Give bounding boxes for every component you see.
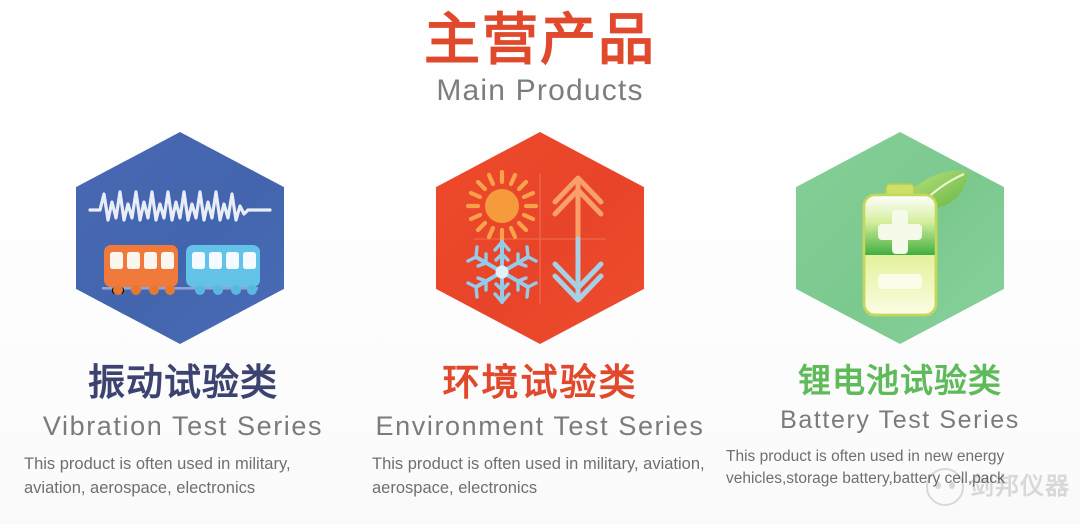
battery-name-cn: 锂电池试验类 — [726, 362, 1074, 400]
product-card-battery[interactable]: 锂电池试验类 Battery Test Series This product … — [720, 132, 1080, 524]
battery-description: This product is often used in new energy… — [726, 446, 1074, 490]
arrow-up-icon — [555, 178, 601, 239]
battery-icon-wrap — [720, 132, 1080, 360]
snowflake-icon — [468, 242, 536, 302]
minus-symbol — [878, 274, 922, 289]
environment-name-en: Environment Test Series — [372, 410, 708, 442]
page-header: 主营产品 Main Products — [0, 0, 1080, 107]
main-products-page: 主营产品 Main Products — [0, 0, 1080, 524]
vibration-text-block: 振动试验类 Vibration Test Series This product… — [0, 360, 360, 500]
environment-name-cn: 环境试验类 — [372, 362, 708, 405]
product-card-environment[interactable]: 环境试验类 Environment Test Series This produ… — [360, 132, 720, 524]
product-columns: 振动试验类 Vibration Test Series This product… — [0, 132, 1080, 524]
battery-leaf-icon — [796, 132, 1004, 344]
product-card-vibration[interactable]: 振动试验类 Vibration Test Series This product… — [0, 132, 360, 524]
arrow-down-icon — [555, 239, 601, 300]
vibration-description: This product is often used in military, … — [20, 453, 346, 500]
page-title-en: Main Products — [0, 74, 1080, 107]
vibration-name-cn: 振动试验类 — [20, 362, 346, 405]
vibration-train-waveform-icon — [76, 132, 284, 344]
environment-icon-wrap — [360, 132, 720, 360]
vibration-name-en: Vibration Test Series — [20, 410, 346, 442]
environment-text-block: 环境试验类 Environment Test Series This produ… — [360, 360, 720, 500]
vibration-icon-wrap — [0, 132, 360, 360]
battery-text-block: 锂电池试验类 Battery Test Series This product … — [720, 360, 1080, 490]
battery-name-en: Battery Test Series — [726, 405, 1074, 435]
environment-sun-snowflake-arrows-icon — [436, 132, 644, 344]
page-title-cn: 主营产品 — [0, 10, 1080, 70]
sun-icon — [468, 172, 536, 240]
environment-description: This product is often used in military, … — [372, 453, 708, 500]
